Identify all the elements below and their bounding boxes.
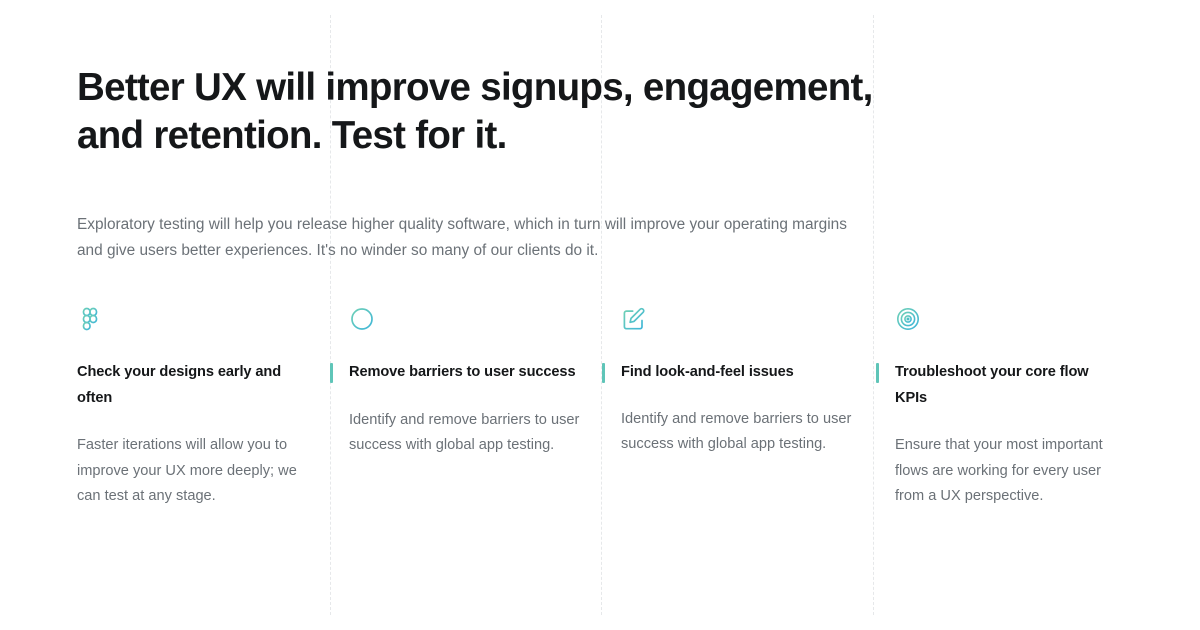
feature-column-3: Find look-and-feel issues Identify and r… <box>621 306 853 458</box>
accent-bar <box>330 363 333 383</box>
feature-body: Ensure that your most important flows ar… <box>895 433 1120 510</box>
feature-column-2: Remove barriers to user success Identify… <box>349 306 581 459</box>
page-subtitle: Exploratory testing will help you releas… <box>77 212 867 264</box>
target-bullseye-icon <box>895 306 921 332</box>
feature-column-1: Check your designs early and often Faste… <box>77 306 309 510</box>
feature-column-4: Troubleshoot your core flow KPIs Ensure … <box>895 306 1120 510</box>
feature-heading: Remove barriers to user success <box>349 360 581 386</box>
page-root: Better UX will improve signups, engageme… <box>0 0 1200 630</box>
feature-body: Faster iterations will allow you to impr… <box>77 433 309 510</box>
figma-icon <box>77 306 103 332</box>
edit-square-icon <box>621 306 647 332</box>
feature-heading-text: Troubleshoot your core flow KPIs <box>895 364 1089 406</box>
feature-heading-text: Remove barriers to user success <box>349 364 575 380</box>
feature-body: Identify and remove barriers to user suc… <box>621 407 853 458</box>
feature-heading-text: Check your designs early and often <box>77 364 281 406</box>
accent-bar <box>876 363 879 383</box>
feature-heading: Check your designs early and often <box>77 360 309 411</box>
feature-heading-text: Find look-and-feel issues <box>621 364 794 380</box>
feature-heading: Find look-and-feel issues <box>621 360 853 386</box>
page-title: Better UX will improve signups, engageme… <box>77 64 877 160</box>
feature-heading: Troubleshoot your core flow KPIs <box>895 360 1120 411</box>
alert-circle-icon <box>349 306 375 332</box>
feature-body: Identify and remove barriers to user suc… <box>349 408 581 459</box>
accent-bar <box>602 363 605 383</box>
